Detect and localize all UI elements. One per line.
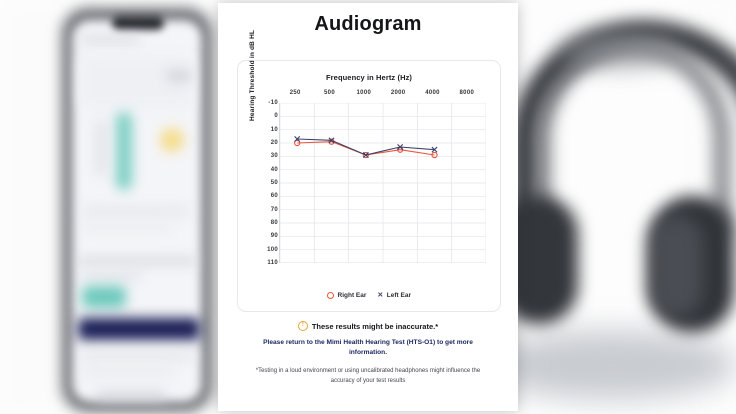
warning-text: These results might be inaccurate.* (312, 322, 438, 331)
x-tick-label: 8000 (460, 90, 475, 96)
y-tick-label: 60 (271, 193, 278, 199)
footnote-text: *Testing in a loud environment or using … (232, 367, 504, 386)
blurred-headphones-shadow (486, 330, 736, 400)
blurred-headphones-right-pad (648, 214, 704, 318)
blurred-ui-blob (82, 272, 142, 280)
y-tick-label: 90 (271, 233, 278, 239)
legend-item: Right Ear (327, 292, 366, 299)
blurred-ui-blob (80, 56, 192, 108)
x-tick-label: 2000 (391, 90, 406, 96)
blurred-ui-blob (82, 206, 190, 216)
audiogram-report-sheet: Audiogram Frequency in Hertz (Hz) 250500… (218, 3, 518, 411)
blurred-ui-blob (82, 286, 126, 308)
chart-x-axis-title: Frequency in Hertz (Hz) (238, 73, 500, 82)
circle-icon (327, 292, 334, 299)
x-tick-label: 1000 (357, 90, 372, 96)
y-tick-label: 50 (271, 180, 278, 186)
blurred-ui-blob (116, 112, 132, 190)
blurred-ui-blob (166, 70, 192, 82)
blurred-ui-blob (78, 258, 196, 264)
y-tick-label: 70 (271, 207, 278, 213)
chart-plot-area (279, 103, 486, 263)
y-tick-label: 40 (271, 167, 278, 173)
blurred-ui-blob (160, 128, 184, 152)
blurred-ui-blob (78, 318, 200, 340)
y-tick-label: 80 (271, 220, 278, 226)
blurred-ui-blob (82, 352, 194, 360)
chart-y-tick-labels: -100102030405060708090100110 (258, 103, 278, 289)
y-tick-label: 20 (271, 140, 278, 146)
blurred-ui-blob (82, 368, 174, 376)
report-footer: ! These results might be inaccurate.* Pl… (232, 321, 504, 387)
inaccuracy-warning: ! These results might be inaccurate.* (232, 321, 504, 331)
legend-item: ✕Left Ear (377, 292, 411, 299)
y-tick-label: -10 (268, 100, 278, 106)
audiogram-series-svg (280, 103, 486, 263)
y-tick-label: 10 (271, 127, 278, 133)
return-instruction-text: Please return to the Mimi Health Hearing… (232, 338, 504, 358)
y-tick-label: 30 (271, 153, 278, 159)
page-title: Audiogram (218, 3, 518, 36)
x-tick-label: 500 (324, 90, 335, 96)
y-tick-label: 110 (267, 260, 278, 266)
legend-label: Left Ear (387, 292, 411, 299)
exclamation-circle-icon: ! (298, 321, 308, 331)
blurred-ui-blob (80, 36, 140, 43)
y-tick-label: 100 (267, 247, 278, 253)
chart-x-tick-labels: 2505001000200040008000 (278, 90, 484, 100)
y-tick-label: 0 (274, 113, 278, 119)
audiogram-chart-card: Frequency in Hertz (Hz) 2505001000200040… (237, 60, 501, 312)
blurred-phone-notch (112, 16, 164, 30)
blurred-ui-blob (96, 120, 106, 176)
blurred-ui-blob (96, 392, 166, 400)
chart-legend: Right Ear✕Left Ear (238, 292, 500, 299)
x-tick-label: 250 (290, 90, 301, 96)
legend-label: Right Ear (338, 292, 367, 299)
background-left-fade (0, 0, 70, 414)
chart-plot-wrapper: Hearing Threshold in dB HL -100102030405… (252, 103, 490, 289)
blurred-ui-blob (82, 224, 172, 231)
x-icon: ✕ (377, 292, 383, 299)
x-tick-label: 4000 (425, 90, 440, 96)
blurred-headphones-highlight (560, 30, 680, 70)
